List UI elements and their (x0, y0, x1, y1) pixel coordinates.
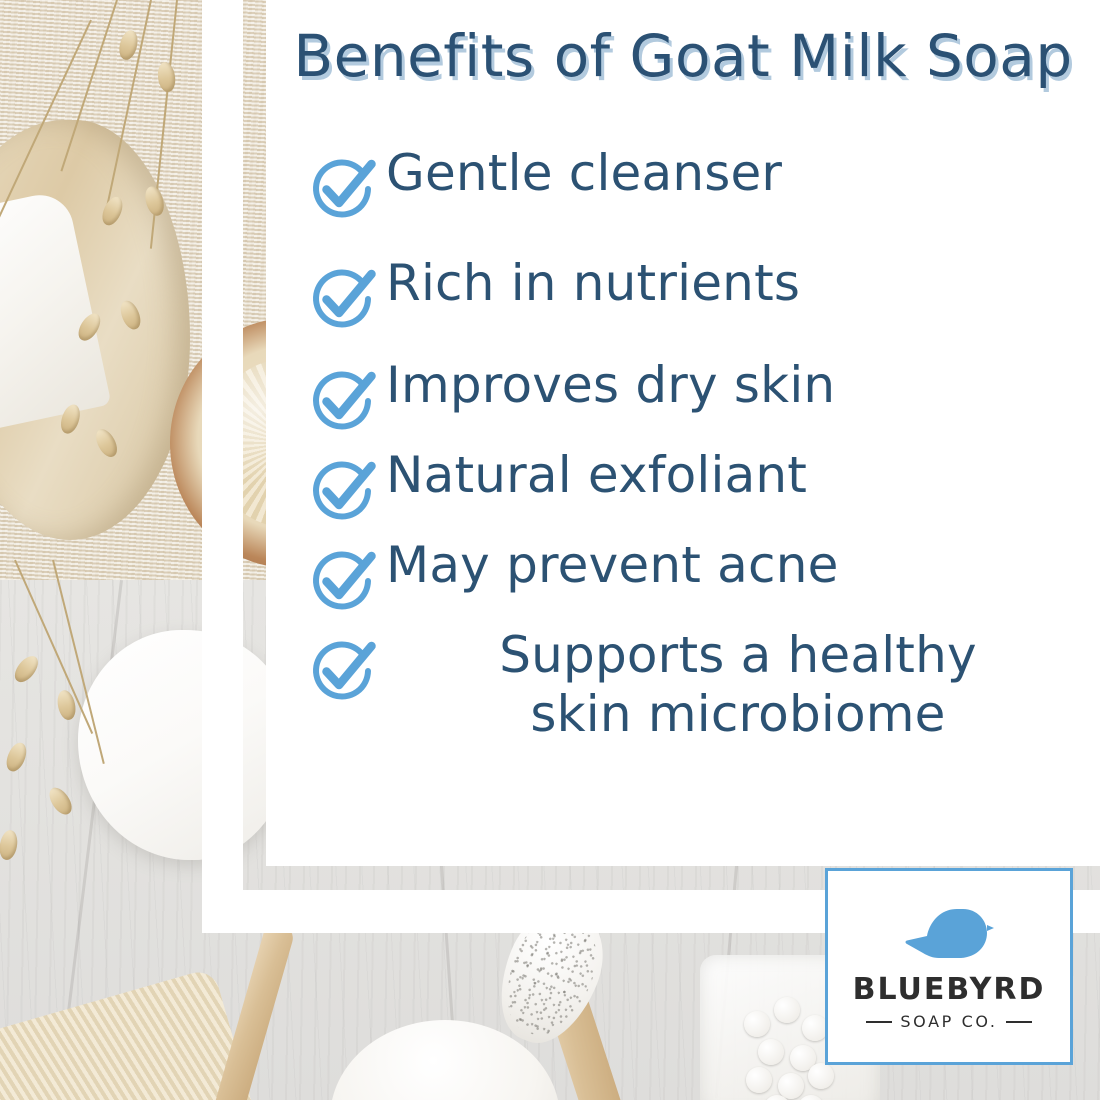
check-circle-icon (300, 532, 386, 620)
benefits-list: Gentle cleanser Rich in nutrients Improv… (300, 140, 1090, 746)
brand-name: BLUEBYRD (853, 975, 1046, 1005)
list-item: Rich in nutrients (300, 250, 1090, 338)
list-item-label: Rich in nutrients (386, 250, 800, 313)
cotton-ball (798, 1095, 824, 1100)
cotton-ball (808, 1063, 834, 1089)
rule-left (866, 1021, 892, 1023)
cotton-ball (758, 1039, 784, 1065)
check-circle-icon (300, 442, 386, 530)
rule-right (1006, 1021, 1032, 1023)
list-item-label: Natural exfoliant (386, 442, 807, 505)
cotton-ball (746, 1067, 772, 1093)
check-circle-icon (300, 622, 386, 710)
list-item: Improves dry skin (300, 352, 1090, 440)
brand-tagline-row: SOAP CO. (866, 1014, 1031, 1030)
list-item-label: Gentle cleanser (386, 140, 782, 203)
cotton-ball (744, 1011, 770, 1037)
cotton-ball (774, 997, 800, 1023)
list-item: Natural exfoliant (300, 442, 1090, 530)
white-frame-vertical-bar (202, 0, 243, 933)
list-item-label: Supports a healthy skin microbiome (386, 622, 1090, 744)
check-circle-icon (300, 250, 386, 338)
check-circle-icon (300, 140, 386, 228)
list-item: Supports a healthy skin microbiome (300, 622, 1090, 744)
list-item: Gentle cleanser (300, 140, 1090, 228)
brand-logo: BLUEBYRD SOAP CO. (825, 868, 1073, 1065)
poster-canvas: Benefits of Goat Milk Soap Gentle cleans… (0, 0, 1100, 1100)
bird-icon (903, 903, 995, 975)
page-title: Benefits of Goat Milk Soap (266, 22, 1100, 90)
brand-tagline: SOAP CO. (900, 1014, 997, 1030)
check-circle-icon (300, 352, 386, 440)
soap-bar (78, 630, 293, 860)
list-item: May prevent acne (300, 532, 1090, 620)
list-item-label: Improves dry skin (386, 352, 835, 415)
list-item-label: May prevent acne (386, 532, 839, 595)
